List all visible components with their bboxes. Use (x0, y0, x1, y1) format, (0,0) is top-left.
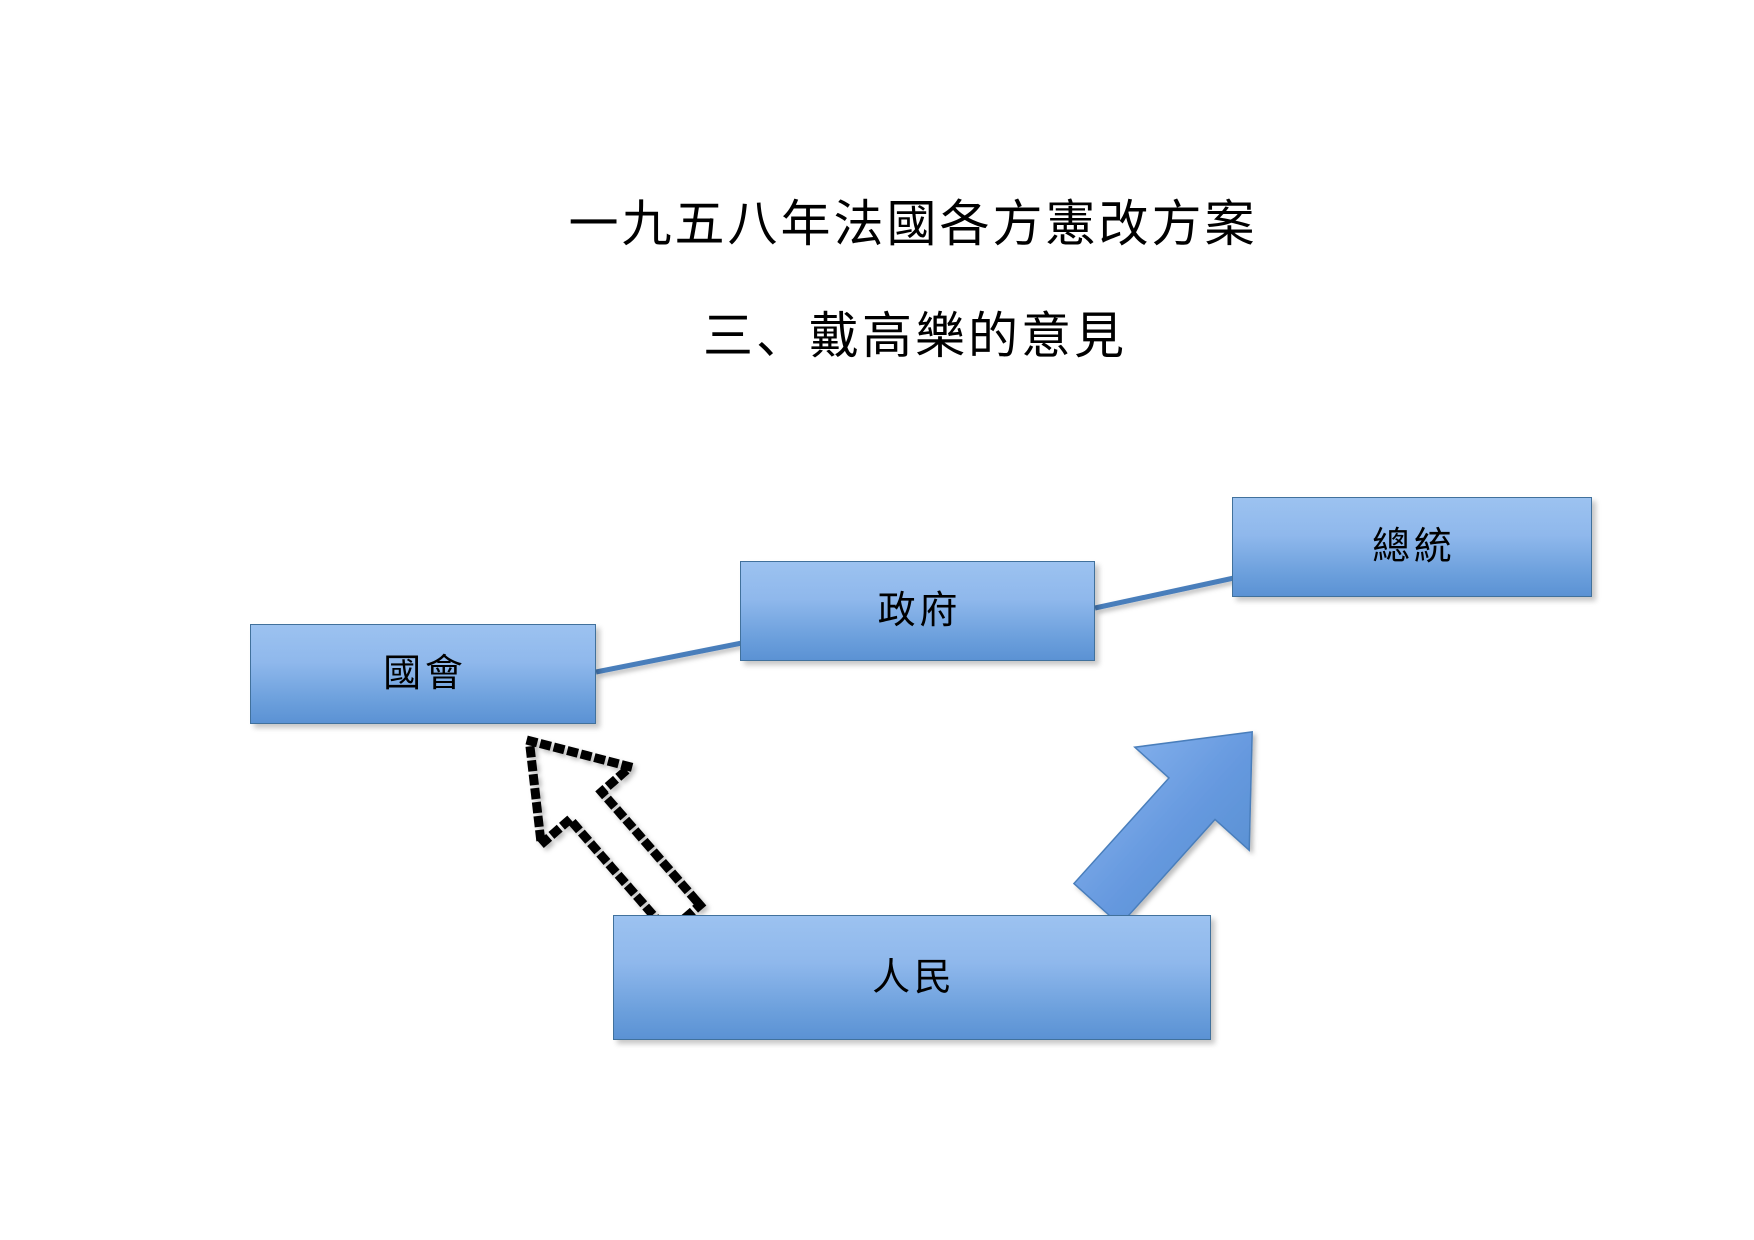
slide-canvas: 一九五八年法國各方憲改方案 三、戴高樂的意見 (0, 0, 1754, 1240)
node-box-president[interactable]: 總統 (1232, 497, 1592, 597)
page-subtitle: 三、戴高樂的意見 (0, 308, 1754, 364)
page-title: 一九五八年法國各方憲改方案 (0, 196, 1754, 252)
node-box-parliament[interactable]: 國會 (250, 624, 596, 724)
node-label-government: 政府 (874, 592, 961, 630)
connector-parliament-government (596, 643, 742, 672)
node-box-people[interactable]: 人民 (613, 915, 1211, 1040)
node-label-people: 人民 (868, 959, 955, 997)
node-label-parliament: 國會 (379, 655, 466, 693)
node-box-government[interactable]: 政府 (740, 561, 1095, 661)
connector-government-president (1095, 578, 1234, 608)
node-label-president: 總統 (1368, 528, 1455, 566)
